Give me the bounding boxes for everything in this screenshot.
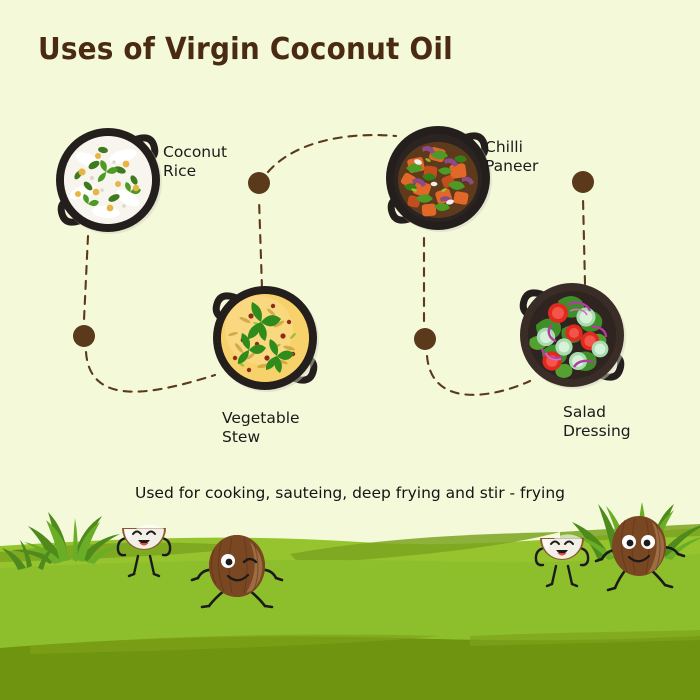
connector-dot: [248, 172, 270, 194]
connector-salad-to-dot: [583, 198, 585, 284]
dish-image-chilli-paneer: [378, 118, 498, 238]
connector-dot-to-paneer: [268, 135, 396, 172]
dish-image-salad-dressing: [512, 275, 632, 395]
label-vegetable-stew: Vegetable Stew: [222, 409, 300, 447]
connector-stew-to-dot: [259, 199, 262, 288]
label-salad-dressing: Salad Dressing: [563, 403, 631, 441]
dish-image-coconut-rice: [48, 120, 168, 240]
label-coconut-rice: Coconut Rice: [163, 143, 227, 181]
dish-image-vegetable-stew: [205, 278, 325, 398]
connector-dot-to-stew: [86, 352, 215, 392]
connector-rice-to-dot: [84, 236, 88, 320]
infographic-canvas: Uses of Virgin Coconut Oil: [0, 0, 700, 700]
connector-dot: [73, 325, 95, 347]
page-title: Uses of Virgin Coconut Oil: [38, 32, 453, 67]
ground-scene: [0, 498, 700, 700]
connector-dot: [414, 328, 436, 350]
label-chilli-paneer: Chilli Paneer: [485, 138, 538, 176]
connector-dot: [572, 171, 594, 193]
